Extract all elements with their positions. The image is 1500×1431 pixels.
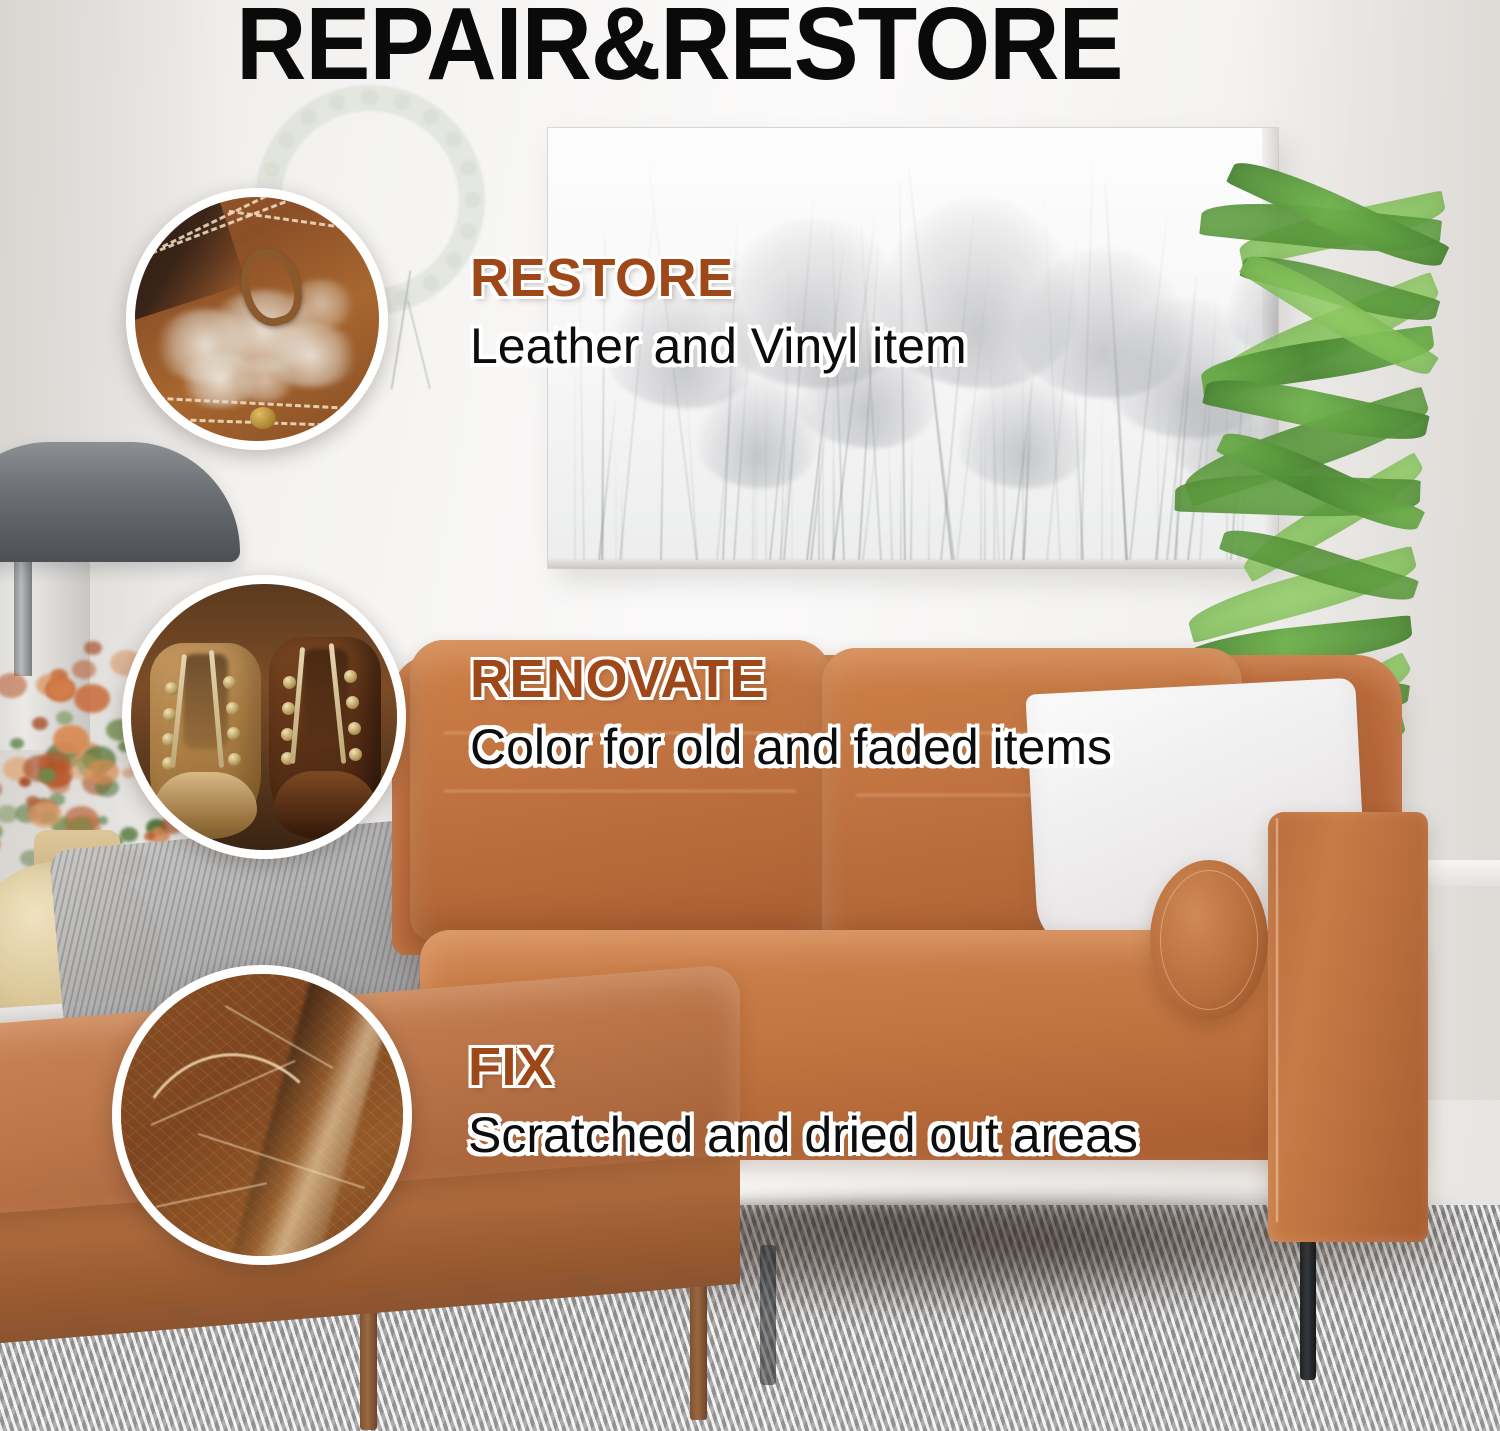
dried-flower-cluster (56, 711, 73, 725)
ottoman-leg (690, 1270, 707, 1420)
dried-flower-cluster (28, 801, 62, 828)
inset-photo-restore (126, 188, 388, 450)
dried-flower-cluster (74, 684, 110, 713)
feature-subtitle-fix: Scratched and dried out areas (468, 1106, 1138, 1164)
sofa-leg (1300, 1240, 1316, 1380)
dried-flower-cluster (48, 679, 73, 699)
dried-flower-cluster (82, 769, 93, 778)
canvas-bottom-edge (548, 557, 1278, 568)
brass-rivet-icon (250, 407, 276, 429)
art-drip (900, 450, 902, 560)
feature-kicker-restore: RESTORE (470, 247, 967, 309)
sofa-armrest (1268, 812, 1428, 1242)
dried-flower-cluster (53, 725, 89, 754)
leather-bolster-pillow (1150, 860, 1268, 1020)
feature-block-restore: RESTORE Leather and Vinyl item (470, 247, 967, 375)
feature-kicker-renovate: RENOVATE (470, 648, 1112, 710)
art-drip (615, 425, 617, 560)
art-drip (1011, 485, 1013, 560)
dried-flower-cluster (84, 641, 102, 655)
art-blade (910, 438, 913, 560)
dried-flower-cluster (32, 717, 48, 730)
art-drip (1101, 376, 1103, 560)
dried-flower-cluster (0, 673, 27, 698)
feature-subtitle-renovate: Color for old and faded items (470, 718, 1112, 776)
dried-flower-cluster (0, 805, 18, 823)
inset-photo-renovate (122, 575, 406, 859)
art-drip (928, 469, 930, 560)
dried-flower-cluster (10, 738, 24, 749)
art-drip (1111, 425, 1113, 560)
product-feature-banner: REPAIR&RESTORE RESTORE Leather and Vinyl… (0, 0, 1500, 1431)
feature-kicker-fix: FIX (468, 1036, 1138, 1098)
dried-flower-cluster (0, 780, 2, 799)
boot-restored (269, 637, 381, 839)
dried-flower-cluster (72, 660, 96, 679)
art-drip (621, 472, 623, 560)
dried-flower-cluster (19, 777, 31, 787)
inset-photo-fix (112, 965, 412, 1265)
dried-flower-cluster (97, 816, 108, 825)
sofa-leg (760, 1245, 776, 1385)
art-blade (888, 440, 893, 560)
boot-faded (150, 643, 262, 840)
art-drip (574, 350, 576, 560)
feature-block-fix: FIX Scratched and dried out areas (468, 1036, 1138, 1164)
dried-flower-cluster (38, 768, 56, 783)
page-title: REPAIR&RESTORE (236, 0, 1122, 104)
art-blade (660, 381, 665, 560)
feature-block-renovate: RENOVATE Color for old and faded items (470, 648, 1112, 776)
dried-flower-cluster (0, 822, 3, 841)
feature-subtitle-restore: Leather and Vinyl item (470, 317, 967, 375)
art-flower-head (958, 378, 1088, 488)
art-drip (602, 425, 604, 560)
